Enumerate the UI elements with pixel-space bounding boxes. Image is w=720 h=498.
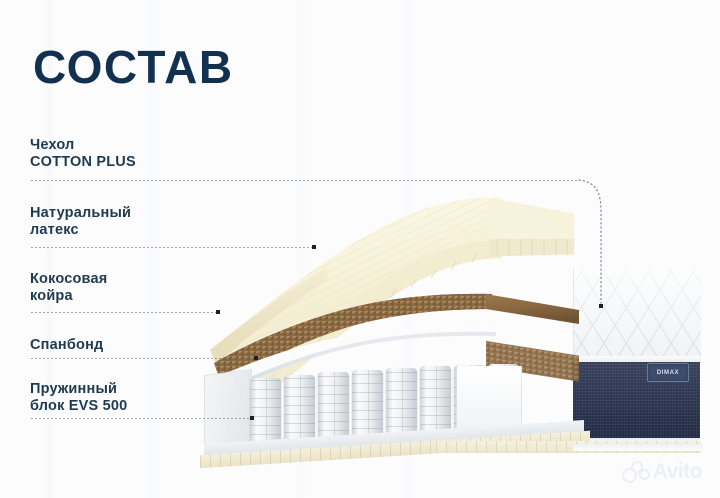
slide-canvas: СОСТАВ DIMAX bbox=[0, 0, 720, 498]
mattress-illustration: DIMAX bbox=[196, 196, 696, 451]
pocket-spring bbox=[420, 366, 451, 434]
avito-logo-icon bbox=[622, 461, 648, 483]
marker-coir bbox=[216, 310, 220, 314]
pocket-spring bbox=[352, 370, 383, 438]
layer-label-cover: Чехол COTTON PLUS bbox=[30, 137, 136, 171]
avito-watermark: Avito bbox=[622, 460, 702, 484]
leader-line-spanbond bbox=[30, 358, 254, 359]
marker-springs bbox=[250, 416, 254, 420]
watermark-label: Avito bbox=[653, 460, 702, 484]
leader-line-springs bbox=[30, 418, 250, 419]
brand-badge: DIMAX bbox=[647, 363, 689, 382]
layer-label-latex: Натуральный латекс bbox=[30, 205, 131, 239]
layer-label-springs: Пружинный блок EVS 500 bbox=[30, 381, 127, 415]
pocket-spring bbox=[386, 368, 417, 436]
layer-label-coir: Кокосовая койра bbox=[30, 271, 107, 305]
pocket-spring bbox=[318, 372, 349, 440]
marker-spanbond bbox=[254, 356, 258, 360]
leader-line-latex bbox=[30, 247, 312, 248]
marker-latex bbox=[312, 245, 316, 249]
base-edge-right bbox=[573, 444, 703, 451]
pocket-spring bbox=[284, 375, 315, 442]
marker-cover bbox=[599, 304, 603, 308]
leader-line-cover bbox=[30, 180, 579, 181]
page-title: СОСТАВ bbox=[33, 44, 234, 90]
pocket-spring bbox=[250, 378, 281, 444]
leader-line-coir bbox=[30, 312, 216, 313]
layer-label-spanbond: Спанбонд bbox=[30, 337, 103, 354]
